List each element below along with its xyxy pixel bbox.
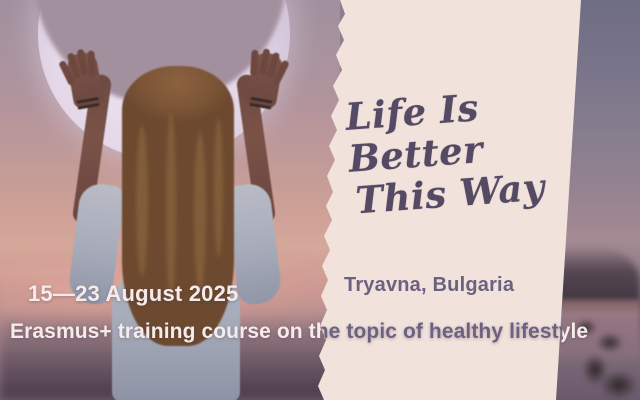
hand-left bbox=[66, 51, 105, 109]
hand-right bbox=[246, 51, 285, 109]
poster-canvas: Life Is Better This Way Tryavna, Bulgari… bbox=[0, 0, 640, 400]
script-headline: Life Is Better This Way bbox=[344, 78, 603, 222]
woman-silhouette bbox=[60, 58, 290, 400]
dates-label: 15—23 August 2025 bbox=[28, 281, 238, 307]
location-label: Tryavna, Bulgaria bbox=[344, 274, 514, 297]
headline-line-1: Life Is Better bbox=[344, 85, 484, 181]
